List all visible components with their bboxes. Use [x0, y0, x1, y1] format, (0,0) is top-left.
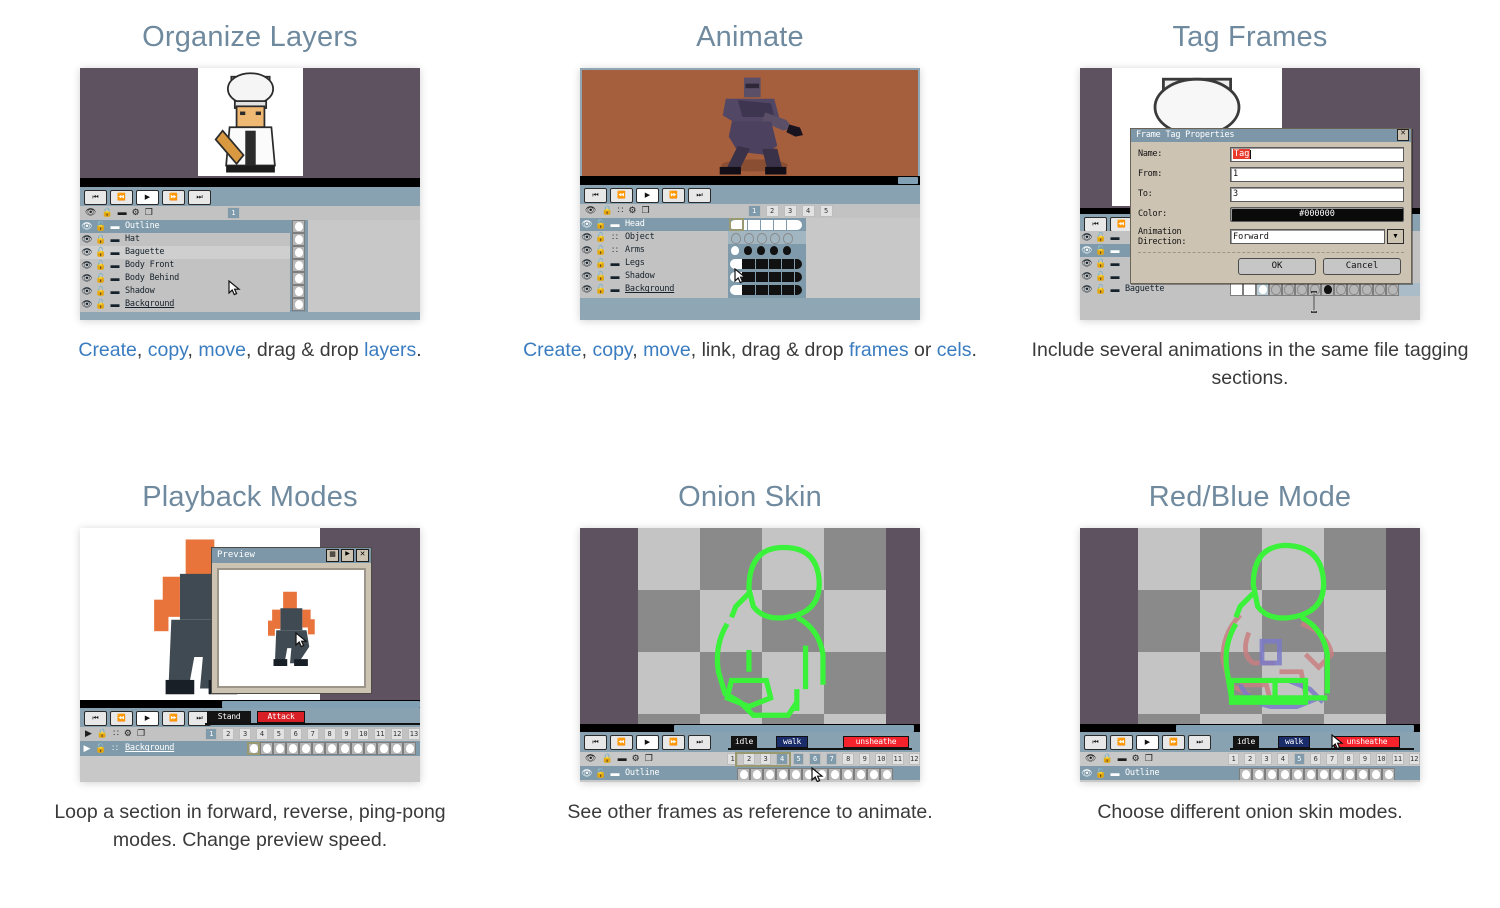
layer-row[interactable]: 👁 🔓 ∷ Arms [580, 244, 728, 257]
dialog-buttons: OK Cancel [1138, 258, 1404, 279]
layer-row[interactable]: 👁 🔓 ▬ Body Front [80, 259, 290, 272]
caption-link-move[interactable]: move [198, 339, 246, 361]
continuous-icon[interactable]: ▬ [108, 286, 122, 296]
eye-icon[interactable]: 👁 [1080, 271, 1094, 282]
eye-icon[interactable]: 👁 [1080, 232, 1094, 243]
layer-row[interactable]: 👁 🔓 ▬ Outline [580, 767, 737, 780]
field-to: To: 3 [1138, 187, 1404, 202]
layer-row[interactable]: 👁 🔓 ▬ Shadow [580, 270, 728, 283]
play-icon[interactable]: ▶ [136, 711, 159, 726]
canvas-area [580, 68, 920, 178]
ok-button[interactable]: OK [1238, 258, 1316, 275]
field-label: From: [1138, 169, 1230, 179]
layer-name[interactable]: Shadow [122, 286, 155, 296]
screenshot-onion-skin: ⏮ ⏪ ▶ ⏩ ⏭ idle walk unsheathe 👁 🔒 ▬ ⚙ ❐ [580, 528, 920, 782]
eye-icon[interactable]: 👁 [80, 234, 94, 245]
timeline-toolbar: ⏮ ⏪ ▶ ⏩ ⏭ [80, 187, 420, 206]
panel-animate: Animate [500, 0, 1000, 460]
timeline-empty-area [80, 756, 420, 782]
frame-number[interactable]: 13 [408, 728, 420, 740]
lock-icon[interactable]: 🔓 [594, 258, 608, 269]
gear-icon[interactable]: ⚙ [1132, 754, 1140, 763]
prev-frame-icon[interactable]: ⏪ [1110, 735, 1133, 750]
lock-icon[interactable]: 🔒 [94, 234, 108, 245]
frame-number[interactable]: 7 [307, 728, 319, 740]
layer-row[interactable]: 👁 🔓 ▬ Shadow [80, 285, 290, 298]
lock-icon[interactable]: 🔒 [101, 208, 112, 217]
lock-icon[interactable]: 🔒 [97, 729, 108, 738]
caption-link-frames[interactable]: frames [849, 339, 909, 361]
timeline-toolbar: ⏮ ⏪ ▶ ⏩ ⏭ Stand Attack [80, 708, 420, 727]
layer-name[interactable]: Background [122, 743, 174, 753]
frame-number[interactable]: 7 [826, 753, 838, 765]
eye-icon[interactable]: 👁 [1080, 768, 1094, 779]
panel-onion-skin: Onion Skin [500, 460, 1000, 908]
frame-number[interactable]: 1 [1228, 753, 1239, 765]
field-label: To: [1138, 189, 1230, 199]
screenshot-organize-layers: ⏮ ⏪ ▶ ⏩ ⏭ 👁 🔒 ▬ ⚙ ❐ 1 [80, 68, 420, 320]
eye-icon[interactable]: 👁 [580, 768, 594, 779]
frame-number[interactable]: 7 [1326, 753, 1337, 765]
eye-icon[interactable]: 👁 [585, 206, 596, 215]
horizontal-scrollbar[interactable] [674, 725, 914, 732]
caption-text: . [971, 339, 976, 361]
play-icon[interactable]: ▶ [1136, 735, 1159, 750]
layer-header-row: 👁 🔒 ▬ ⚙ ❐ 1 2 3 4 5 6 7 8 9 10 11 [1080, 752, 1420, 766]
close-icon[interactable]: ✕ [1397, 129, 1409, 141]
panel-organize-layers: Organize Layers [0, 0, 500, 460]
lock-icon[interactable]: 🔒 [601, 754, 612, 763]
chevron-down-icon[interactable]: ▼ [1387, 229, 1404, 244]
frame-number[interactable]: 11 [892, 753, 904, 765]
first-frame-icon[interactable]: ⏮ [1084, 735, 1107, 750]
panel-caption: Create, copy, move, drag & drop layers. [15, 336, 485, 364]
duplicate-icon[interactable]: ❐ [641, 206, 649, 215]
continuous-icon[interactable]: ▬ [1108, 768, 1122, 778]
eye-icon[interactable]: 👁 [580, 245, 594, 256]
gear-icon[interactable]: ⚙ [124, 729, 132, 738]
frame-number[interactable]: 11 [374, 728, 386, 740]
checkerboard-canvas [1138, 528, 1386, 724]
tag-chip-walk[interactable]: walk [776, 736, 808, 748]
from-input[interactable]: 1 [1230, 167, 1404, 182]
eye-icon[interactable]: 👁 [80, 286, 94, 297]
layer-name[interactable]: Arms [622, 245, 645, 255]
lock-icon[interactable]: 🔓 [94, 286, 108, 297]
frame-number[interactable]: 4 [802, 205, 815, 217]
lock-icon[interactable]: 🔒 [1101, 754, 1112, 763]
gear-icon[interactable]: ⚙ [628, 206, 636, 215]
next-frame-icon[interactable]: ⏩ [662, 735, 685, 750]
timeline-bottom-strip [80, 312, 420, 320]
continuous-icon[interactable]: ▬ [108, 247, 122, 257]
lock-icon[interactable]: 🔓 [594, 219, 608, 230]
layer-row[interactable]: 👁 🔓 ▬ Background [580, 283, 728, 296]
fighter-sprite-preview [235, 575, 345, 680]
caption-link-layers[interactable]: layers [364, 339, 416, 361]
canvas-area [80, 68, 420, 178]
continuous-icon[interactable]: ▬ [1108, 232, 1122, 242]
layer-name[interactable]: Baguette [1122, 284, 1164, 294]
gear-icon[interactable]: ⚙ [632, 754, 640, 763]
layer-name[interactable]: Outline [622, 768, 659, 778]
eye-icon[interactable]: 👁 [580, 232, 594, 243]
continuous-icon[interactable]: ▬ [108, 221, 122, 231]
first-frame-icon[interactable]: ⏮ [584, 188, 607, 203]
next-frame-icon[interactable]: ⏩ [1162, 735, 1185, 750]
timeline-toolbar: ⏮ ⏪ ▶ ⏩ ⏭ idle walk unsheathe [580, 732, 920, 752]
lock-icon[interactable]: 🔓 [594, 232, 608, 243]
frame-number[interactable]: 12 [909, 753, 921, 765]
ninja-sprite [582, 70, 918, 176]
eye-icon[interactable]: ▶ [80, 743, 94, 754]
continuous-icon[interactable]: ▬ [108, 260, 122, 270]
frame-number[interactable]: 10 [357, 728, 369, 740]
frame-range-selection [735, 752, 791, 767]
first-frame-icon[interactable]: ⏮ [84, 711, 107, 726]
first-frame-icon[interactable]: ⏮ [584, 735, 607, 750]
lock-icon[interactable]: 🔓 [1094, 232, 1108, 243]
eye-icon[interactable]: 👁 [580, 271, 594, 282]
layer-list: 👁 🔓 ▬ Outline [1080, 766, 1420, 780]
lock-icon[interactable]: 🔒 [1094, 258, 1108, 269]
eye-icon[interactable]: 👁 [80, 273, 94, 284]
frame-number[interactable]: 9 [1359, 753, 1370, 765]
continuous-icon[interactable]: ▬ [618, 754, 627, 763]
field-label: Color: [1138, 209, 1230, 219]
panel-title: Onion Skin [678, 482, 822, 514]
playback-nav-buttons[interactable]: ⏮ ⏪ ▶ ⏩ ⏭ [584, 188, 711, 203]
frame-number[interactable]: 6 [290, 728, 302, 740]
caption-text: , link, drag & drop [691, 339, 849, 361]
panel-title: Tag Frames [1172, 22, 1327, 54]
layer-row[interactable]: 👁 🔓 ▬ Head [580, 218, 728, 231]
frame-number[interactable]: 2 [222, 728, 234, 740]
next-frame-icon[interactable]: ⏩ [162, 711, 185, 726]
continuous-icon[interactable]: ∷ [608, 245, 622, 256]
gear-icon[interactable]: ⚙ [132, 208, 140, 217]
dialog-form: Name: Tag From: 1 To: 3 Color: #000000 [1131, 142, 1411, 283]
layer-row[interactable]: 👁 🔓 ∷ Object [580, 231, 728, 244]
lock-icon[interactable]: 🔓 [94, 743, 108, 754]
layer-row[interactable]: 👁 🔓 ▬ Baguette [1080, 283, 1230, 296]
eye-icon[interactable]: 👁 [1080, 245, 1094, 256]
layer-row[interactable]: 👁 🔓 ▬ Outline [1080, 767, 1239, 780]
continuous-icon[interactable]: ▬ [608, 258, 622, 268]
cel-column[interactable] [290, 220, 308, 312]
continuous-icon[interactable]: ▬ [1108, 271, 1122, 281]
first-frame-icon[interactable]: ⏮ [84, 190, 107, 205]
duplicate-icon[interactable]: ❐ [137, 729, 145, 738]
lock-icon[interactable]: 🔓 [1094, 284, 1108, 295]
frame-number[interactable]: 8 [842, 753, 854, 765]
name-input[interactable]: Tag [1230, 147, 1404, 162]
name-input-value: Tag [1233, 149, 1250, 159]
canvas-bottom-bar [580, 176, 920, 185]
duplicate-icon[interactable]: ❐ [645, 754, 653, 763]
last-frame-icon[interactable]: ⏭ [188, 190, 211, 205]
continuous-icon[interactable]: ▬ [118, 208, 127, 217]
lock-icon[interactable]: 🔓 [594, 284, 608, 295]
last-frame-icon[interactable]: ⏭ [688, 188, 711, 203]
tag-chip-stand[interactable]: Stand [207, 711, 251, 723]
eye-icon[interactable]: 👁 [580, 258, 594, 269]
lock-icon[interactable]: 🔓 [594, 271, 608, 282]
timeline-bottom-strip [580, 298, 920, 320]
continuous-icon[interactable]: ∷ [618, 206, 624, 215]
canvas-area [580, 528, 920, 728]
playback-nav-buttons[interactable]: ⏮ ⏪ ▶ ⏩ ⏭ [84, 190, 211, 205]
lock-icon[interactable]: 🔒 [601, 206, 612, 215]
layer-row[interactable]: 👁 🔓 ▬ Legs [580, 257, 728, 270]
cancel-button[interactable]: Cancel [1323, 258, 1401, 275]
layer-row[interactable]: 👁 🔓 ▬ Outline [80, 220, 290, 233]
continuous-icon[interactable]: ▬ [1108, 245, 1122, 255]
caption-link-move[interactable]: move [643, 339, 691, 361]
eye-icon[interactable]: 👁 [1080, 258, 1094, 269]
last-frame-icon[interactable]: ⏭ [1188, 735, 1211, 750]
onion-redblue-sprite [1138, 528, 1386, 724]
layer-name[interactable]: Background [622, 284, 674, 294]
layer-row[interactable]: 👁 🔓 ▬ Baguette [80, 246, 290, 259]
eye-icon[interactable]: 👁 [580, 219, 594, 230]
lock-icon[interactable]: 🔓 [94, 273, 108, 284]
caption-link-copy[interactable]: copy [592, 339, 632, 361]
caption-text: or [909, 339, 937, 361]
screenshot-tag-frames: ⏮ ⏪ ▶ ⏩ ⏭ 👁 🔓 ▬ 👁 🔓 ▬ [1080, 68, 1420, 320]
continuous-icon[interactable]: ▬ [108, 273, 122, 283]
field-animation-direction: Animation Direction: Forward ▼ [1138, 227, 1404, 247]
frame-number[interactable]: 12 [391, 728, 403, 740]
caption-text: , [582, 339, 593, 361]
playback-nav-buttons[interactable]: ⏮ ⏪ ▶ ⏩ ⏭ [84, 711, 211, 726]
frame-number[interactable]: 3 [784, 205, 797, 217]
prev-frame-icon[interactable]: ⏪ [610, 735, 633, 750]
eye-icon[interactable]: 👁 [1080, 284, 1094, 295]
continuous-icon[interactable]: ∷ [113, 729, 119, 738]
lock-icon[interactable]: 🔓 [594, 245, 608, 256]
panel-caption: Choose different onion skin modes. [1015, 798, 1485, 826]
tag-chip-walk[interactable]: walk [1278, 736, 1310, 748]
onion-outline-sprite [638, 528, 886, 724]
layer-name[interactable]: Outline [122, 221, 159, 231]
last-frame-icon[interactable]: ⏭ [688, 735, 711, 750]
continuous-icon[interactable]: ▬ [608, 219, 622, 229]
preview-window-buttons[interactable]: ▦ ▶ ✕ [326, 549, 369, 562]
continuous-icon[interactable]: ∷ [608, 232, 622, 243]
lock-icon[interactable]: 🔓 [1094, 245, 1108, 256]
dialog-title: Frame Tag Properties [1136, 130, 1234, 140]
continuous-icon[interactable]: ▬ [1108, 258, 1122, 268]
eye-icon[interactable]: 👁 [80, 221, 94, 232]
tag-chip-unsheathe[interactable]: unsheathe [1334, 736, 1400, 748]
layer-name[interactable]: Hat [122, 234, 140, 244]
dialog-titlebar[interactable]: Frame Tag Properties ✕ [1131, 129, 1411, 142]
prev-frame-icon[interactable]: ⏪ [610, 188, 633, 203]
caption-link-create[interactable]: Create [78, 339, 137, 361]
feature-grid: Organize Layers [0, 0, 1500, 908]
continuous-icon[interactable]: ▬ [108, 234, 122, 244]
frame-number[interactable]: 11 [1392, 753, 1403, 765]
lock-icon[interactable]: 🔓 [1094, 271, 1108, 282]
eye-icon[interactable]: 👁 [580, 284, 594, 295]
frame-number[interactable]: 5 [793, 753, 805, 765]
tag-chip-attack[interactable]: Attack [257, 711, 305, 723]
layer-row[interactable]: 👁 🔒 ▬ Hat [80, 233, 290, 246]
continuous-icon[interactable]: ▬ [608, 284, 622, 294]
preview-title: Preview [217, 550, 255, 560]
cel-grid[interactable] [1230, 283, 1420, 296]
eye-icon[interactable]: 👁 [80, 247, 94, 258]
frame-number[interactable]: 4 [256, 728, 268, 740]
layer-list: 👁 🔓 ▬ Head 👁 🔓 ∷ Object 👁 🔓 ∷ Arms [580, 218, 920, 298]
color-swatch-button[interactable]: #000000 [1230, 207, 1404, 222]
lock-icon[interactable]: 🔓 [94, 247, 108, 258]
play-icon[interactable]: ▶ [341, 549, 354, 562]
frame-number[interactable]: 3 [239, 728, 251, 740]
eye-icon[interactable]: 👁 [80, 260, 94, 271]
frame-number[interactable]: 1 [748, 205, 761, 217]
tag-chip-unsheathe[interactable]: unsheathe [843, 736, 909, 748]
lock-icon[interactable]: 🔓 [94, 221, 108, 232]
continuous-icon[interactable]: ∷ [108, 743, 122, 754]
continuous-icon[interactable]: ▬ [1118, 754, 1127, 763]
frame-number[interactable]: 5 [1294, 753, 1305, 765]
caption-link-copy[interactable]: copy [148, 339, 188, 361]
frame-number[interactable]: 10 [1376, 753, 1387, 765]
lock-icon[interactable]: 🔓 [1094, 768, 1108, 779]
next-frame-icon[interactable]: ⏩ [662, 188, 685, 203]
panel-title: Red/Blue Mode [1149, 482, 1352, 514]
layer-name[interactable]: Legs [622, 258, 645, 268]
caption-link-create[interactable]: Create [523, 339, 582, 361]
grid-icon[interactable]: ▦ [326, 549, 339, 562]
layer-row[interactable]: 👁 🔓 ▬ Body Behind [80, 272, 290, 285]
frame-number[interactable]: 5 [273, 728, 285, 740]
next-frame-icon[interactable]: ⏩ [162, 190, 185, 205]
panel-red-blue-mode: Red/Blue Mode [1000, 460, 1500, 908]
preview-titlebar[interactable]: Preview ▦ ▶ ✕ [212, 548, 371, 563]
continuous-icon[interactable]: ▬ [108, 299, 122, 309]
field-label: Name: [1138, 149, 1230, 159]
layer-name[interactable]: Baguette [122, 247, 164, 257]
frame-number[interactable]: 2 [1244, 753, 1255, 765]
tag-chip-idle[interactable]: idle [1233, 736, 1259, 748]
layer-name[interactable]: Body Behind [122, 273, 179, 283]
chef-sprite [198, 68, 303, 176]
eye-icon[interactable]: 👁 [1085, 754, 1096, 763]
play-icon[interactable]: ▶ [636, 188, 659, 203]
eye-icon[interactable]: 👁 [80, 299, 94, 310]
field-from: From: 1 [1138, 167, 1404, 182]
cel-grid[interactable] [728, 218, 806, 298]
panel-caption: See other frames as reference to animate… [515, 798, 985, 826]
frame-number[interactable]: 8 [1343, 753, 1354, 765]
first-frame-icon[interactable]: ⏮ [1084, 217, 1107, 232]
preview-window: Preview ▦ ▶ ✕ [211, 547, 372, 694]
frame-number[interactable]: 4 [1277, 753, 1288, 765]
lock-icon[interactable]: 🔓 [94, 299, 108, 310]
frame-number[interactable]: 5 [820, 205, 833, 217]
eye-icon[interactable]: 👁 [585, 754, 596, 763]
close-icon[interactable]: ✕ [356, 549, 369, 562]
playback-nav-buttons[interactable]: ⏮ ⏪ ▶ ⏩ ⏭ [584, 735, 711, 750]
layer-name[interactable]: Object [622, 232, 655, 242]
caption-text: , [137, 339, 148, 361]
panel-caption: Include several animations in the same f… [1015, 336, 1485, 393]
caption-text: , [187, 339, 198, 361]
animation-direction-select[interactable]: Forward [1230, 229, 1385, 244]
sprite-canvas [198, 68, 303, 176]
canvas-bottom-bar [80, 178, 420, 187]
frame-number[interactable]: 1 [227, 207, 240, 219]
layer-header-row: 👁 🔒 ▬ ⚙ ❐ 1 [80, 206, 420, 220]
eye-icon[interactable]: ▶ [85, 729, 92, 738]
layer-list: 👁 🔓 ▬ Outline [580, 766, 920, 780]
frame-number[interactable]: 9 [341, 728, 353, 740]
frame-number[interactable]: 2 [766, 205, 779, 217]
frame-number[interactable]: 3 [1261, 753, 1272, 765]
canvas-area [1080, 528, 1420, 728]
layer-header-row: ▶ 🔒 ∷ ⚙ ❐ 1 2 3 4 5 6 7 8 9 10 11 [80, 727, 420, 741]
layer-row[interactable]: 👁 🔓 ▬ Background [80, 298, 290, 311]
play-icon[interactable]: ▶ [136, 190, 159, 205]
continuous-icon[interactable]: ▬ [1108, 284, 1122, 294]
caption-link-cels[interactable]: cels [937, 339, 972, 361]
duplicate-icon[interactable]: ❐ [145, 208, 153, 217]
eye-icon[interactable]: 👁 [85, 208, 96, 217]
continuous-icon[interactable]: ▬ [608, 768, 622, 778]
prev-frame-icon[interactable]: ⏪ [110, 711, 133, 726]
frame-number[interactable]: 6 [809, 753, 821, 765]
duplicate-icon[interactable]: ❐ [1145, 754, 1153, 763]
frame-tag-properties-dialog: Frame Tag Properties ✕ Name: Tag From: 1… [1130, 128, 1412, 284]
panel-title: Animate [696, 22, 804, 54]
horizontal-scrollbar[interactable] [222, 701, 420, 708]
horizontal-scrollbar[interactable] [1176, 725, 1414, 732]
frame-number[interactable]: 12 [1409, 753, 1420, 765]
layer-name[interactable]: Shadow [622, 271, 655, 281]
frame-number[interactable]: 6 [1310, 753, 1321, 765]
frame-number[interactable]: 9 [859, 753, 871, 765]
panel-caption: Loop a section in forward, reverse, ping… [40, 798, 460, 855]
tag-chip-idle[interactable]: idle [731, 736, 757, 748]
playback-nav-buttons[interactable]: ⏮ ⏪ ▶ ⏩ ⏭ [1084, 735, 1211, 750]
layer-name[interactable]: Body Front [122, 260, 174, 270]
lock-icon[interactable]: 🔓 [94, 260, 108, 271]
layer-name[interactable]: Background [122, 299, 174, 309]
frame-number[interactable]: 1 [205, 728, 217, 740]
screenshot-animate: ⏮ ⏪ ▶ ⏩ ⏭ 👁 🔒 ∷ ⚙ ❐ 1 2 3 [580, 68, 920, 320]
lock-icon[interactable]: 🔓 [594, 768, 608, 779]
screenshot-playback-modes: Preview ▦ ▶ ✕ [80, 528, 420, 782]
layer-list: 👁 🔓 ▬ Outline 👁 🔒 ▬ Hat 👁 🔓 ▬ Baguette [80, 220, 420, 312]
horizontal-scrollbar[interactable] [898, 177, 918, 184]
to-input[interactable]: 3 [1230, 187, 1404, 202]
continuous-icon[interactable]: ▬ [608, 271, 622, 281]
frame-number[interactable]: 8 [324, 728, 336, 740]
layer-header-row: 👁 🔒 ∷ ⚙ ❐ 1 2 3 4 5 [580, 204, 920, 218]
frame-number[interactable]: 10 [875, 753, 887, 765]
layer-row[interactable]: ▶ 🔓 ∷ Background [80, 742, 247, 755]
panel-caption: Create, copy, move, link, drag & drop fr… [515, 336, 985, 364]
layer-name[interactable]: Head [622, 219, 645, 229]
play-icon[interactable]: ▶ [636, 735, 659, 750]
layer-name[interactable]: Outline [1122, 768, 1159, 778]
prev-frame-icon[interactable]: ⏪ [110, 190, 133, 205]
field-label: Animation Direction: [1138, 227, 1230, 247]
timeline-toolbar: ⏮ ⏪ ▶ ⏩ ⏭ [580, 185, 920, 204]
